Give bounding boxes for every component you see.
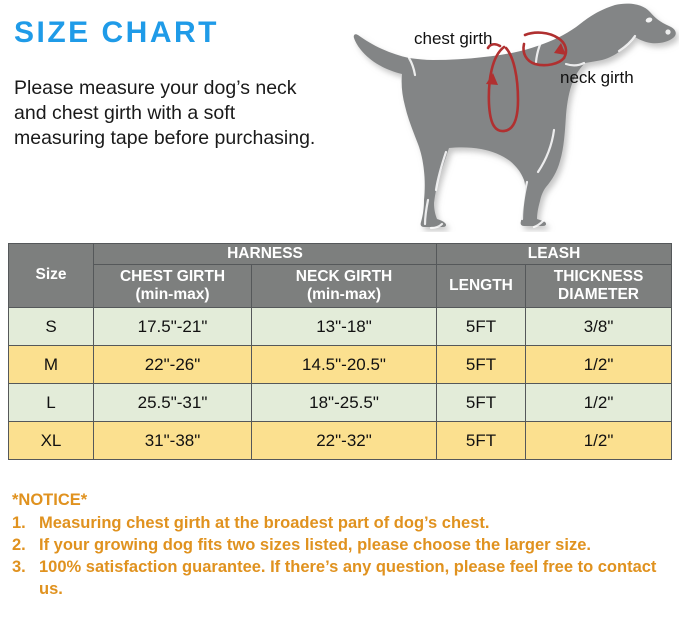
column-header-neck-girth: NECK GIRTH (min-max) [252, 265, 437, 308]
table-row: XL 31"-38" 22"-32" 5FT 1/2" [9, 422, 672, 460]
column-group-header-harness: HARNESS [94, 244, 437, 265]
cell-leash-length: 5FT [437, 308, 526, 346]
column-header-size: Size [9, 244, 94, 308]
cell-leash-thickness: 1/2" [526, 346, 672, 384]
column-header-leash-thickness: THICKNESS DIAMETER [526, 265, 672, 308]
notice-item-text: Measuring chest girth at the broadest pa… [39, 514, 489, 532]
cell-leash-thickness: 1/2" [526, 384, 672, 422]
notice-item: 2. If your growing dog fits two sizes li… [12, 534, 672, 556]
cell-leash-length: 5FT [437, 422, 526, 460]
cell-size: S [9, 308, 94, 346]
table-group-header-row: Size HARNESS LEASH [9, 244, 672, 265]
table-header: Size HARNESS LEASH CHEST GIRTH (min-max)… [9, 244, 672, 308]
notice-item-number: 1. [12, 512, 26, 534]
column-header-chest-girth: CHEST GIRTH (min-max) [94, 265, 252, 308]
table-row: L 25.5"-31" 18"-25.5" 5FT 1/2" [9, 384, 672, 422]
cell-chest-girth: 31"-38" [94, 422, 252, 460]
dog-silhouette-icon [332, 0, 679, 232]
cell-neck-girth: 22"-32" [252, 422, 437, 460]
cell-leash-length: 5FT [437, 384, 526, 422]
notice-list: 1. Measuring chest girth at the broadest… [12, 512, 672, 600]
cell-leash-thickness: 3/8" [526, 308, 672, 346]
notice-item-text: 100% satisfaction guarantee. If there’s … [39, 558, 656, 598]
chest-girth-header-line1: CHEST GIRTH [120, 268, 225, 285]
table-body: S 17.5"-21" 13"-18" 5FT 3/8" M 22"-26" 1… [9, 308, 672, 460]
notice-item-number: 3. [12, 556, 26, 578]
table-sub-header-row: CHEST GIRTH (min-max) NECK GIRTH (min-ma… [9, 265, 672, 308]
cell-size: L [9, 384, 94, 422]
intro-instructions: Please measure your dog’s neck and chest… [14, 76, 324, 151]
column-header-leash-length: LENGTH [437, 265, 526, 308]
size-chart-table: Size HARNESS LEASH CHEST GIRTH (min-max)… [8, 243, 672, 460]
cell-chest-girth: 25.5"-31" [94, 384, 252, 422]
cell-size: XL [9, 422, 94, 460]
cell-size: M [9, 346, 94, 384]
neck-girth-header-line1: NECK GIRTH [296, 268, 392, 285]
notice-item: 3. 100% satisfaction guarantee. If there… [12, 556, 672, 600]
cell-leash-length: 5FT [437, 346, 526, 384]
dog-measurement-diagram: chest girth neck girth [332, 0, 679, 232]
thickness-header-line2: DIAMETER [526, 286, 671, 304]
intro-block: SIZE CHART Please measure your dog’s nec… [14, 18, 324, 151]
chest-girth-header-line2: (min-max) [94, 286, 251, 304]
page-title: SIZE CHART [14, 18, 324, 48]
column-group-header-leash: LEASH [437, 244, 672, 265]
notice-block: *NOTICE* 1. Measuring chest girth at the… [12, 489, 672, 601]
cell-neck-girth: 14.5"-20.5" [252, 346, 437, 384]
chest-girth-label: chest girth [414, 29, 492, 49]
cell-neck-girth: 13"-18" [252, 308, 437, 346]
thickness-header-line1: THICKNESS [554, 268, 644, 285]
notice-item-text: If your growing dog fits two sizes liste… [39, 536, 591, 554]
table-row: M 22"-26" 14.5"-20.5" 5FT 1/2" [9, 346, 672, 384]
cell-chest-girth: 17.5"-21" [94, 308, 252, 346]
neck-girth-label: neck girth [560, 68, 634, 88]
neck-girth-header-line2: (min-max) [252, 286, 436, 304]
cell-leash-thickness: 1/2" [526, 422, 672, 460]
cell-chest-girth: 22"-26" [94, 346, 252, 384]
notice-item: 1. Measuring chest girth at the broadest… [12, 512, 672, 534]
notice-item-number: 2. [12, 534, 26, 556]
table-row: S 17.5"-21" 13"-18" 5FT 3/8" [9, 308, 672, 346]
cell-neck-girth: 18"-25.5" [252, 384, 437, 422]
notice-title: *NOTICE* [12, 489, 672, 511]
